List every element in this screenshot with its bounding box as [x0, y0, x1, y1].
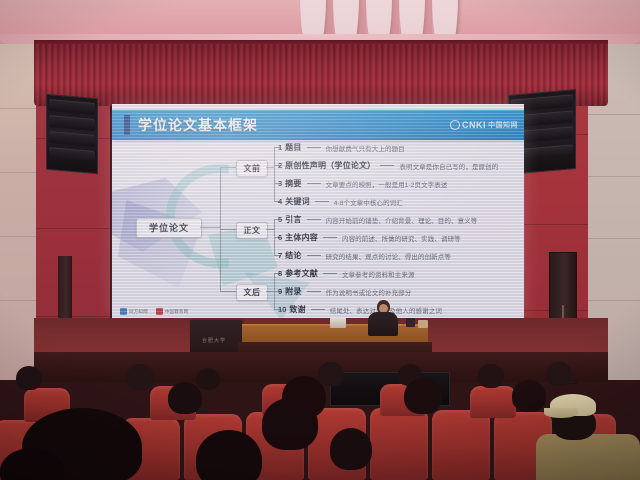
- connector: [274, 147, 275, 201]
- mindmap-group-2: 正文: [236, 222, 268, 239]
- connector: [266, 229, 274, 230]
- connector: [220, 229, 236, 230]
- laptop: [330, 318, 346, 328]
- item-dash: [380, 165, 394, 166]
- slide-title-bar: 学位论文基本框架 CNKI 中国知网: [112, 110, 524, 140]
- item-number: 1: [278, 143, 282, 152]
- item-number: 3: [278, 179, 282, 188]
- cnki-subtitle: 中国知网: [488, 120, 518, 130]
- connector: [200, 227, 220, 228]
- list-item: 7 结论 研究的结果、观点的讨论、得出的创新点等: [278, 250, 451, 261]
- item-label: 致谢: [289, 304, 305, 315]
- audience-jacket: [536, 434, 640, 480]
- item-label: 主体内容: [285, 232, 318, 243]
- item-description: 你想献费气只有大上的题目: [326, 143, 405, 153]
- item-label: 摘要: [285, 178, 301, 189]
- item-description: 文章参考的资料和主来源: [342, 269, 415, 279]
- lectern-nameplate: 合肥大学: [194, 336, 234, 346]
- slide-surface: 学位论文基本框架 CNKI 中国知网 学位论文 文前 正文 文后: [112, 104, 524, 318]
- list-item: 10 致谢 结尾处、表达对导师及他人的感谢之词: [278, 304, 442, 315]
- microphone: [406, 318, 415, 327]
- auditorium-photo: 学位论文基本框架 CNKI 中国知网 学位论文 文前 正文 文后: [0, 0, 640, 480]
- logo-mark-icon: [120, 308, 127, 315]
- left-speaker-stack: [46, 94, 98, 175]
- audience-head: [196, 368, 220, 390]
- slide-footer-logos: 同方知网 中国教育网: [120, 308, 188, 315]
- item-number: 2: [278, 161, 282, 170]
- audience-head: [404, 378, 442, 414]
- item-dash: [307, 183, 321, 184]
- globe-icon: [450, 120, 460, 130]
- list-item: 4 关键词 4-8个文章中核心的词汇: [278, 196, 403, 207]
- mindmap: 学位论文 文前 正文 文后: [112, 142, 524, 314]
- item-description: 作为说明书或论文的补充部分: [326, 287, 412, 297]
- connector: [220, 291, 236, 292]
- item-description: 表明文章是你自己写的，是原创的: [399, 161, 498, 171]
- audience-head: [168, 382, 202, 414]
- item-number: 9: [278, 287, 282, 296]
- item-label: 原创性声明（学位论文）: [285, 160, 375, 171]
- item-number: 6: [278, 233, 282, 242]
- item-description: 内容的前述、所做的研究、实践、调研等: [342, 233, 461, 243]
- presenter: [368, 300, 398, 334]
- item-description: 4-8个文章中核心的词汇: [334, 197, 403, 207]
- seat[interactable]: [470, 386, 516, 418]
- seat[interactable]: [370, 408, 428, 480]
- connector: [220, 167, 236, 168]
- partner-logo-1: 同方知网: [120, 308, 148, 315]
- audience-head: [262, 398, 318, 450]
- item-dash: [307, 219, 321, 220]
- item-dash: [307, 291, 321, 292]
- item-label: 题目: [285, 142, 301, 153]
- item-description: 研究的结果、观点的讨论、得出的创新点等: [326, 251, 451, 261]
- item-label: 参考文献: [285, 268, 318, 279]
- item-dash: [307, 255, 321, 256]
- partner-logo-text: 中国教育网: [165, 309, 189, 315]
- audience-head: [318, 362, 344, 386]
- item-dash: [307, 147, 321, 148]
- cnki-logo: CNKI 中国知网: [450, 120, 518, 130]
- projection-screen: 学位论文基本框架 CNKI 中国知网 学位论文 文前 正文 文后: [112, 104, 524, 318]
- audience-head: [512, 380, 546, 412]
- item-number: 10: [278, 305, 286, 314]
- item-dash: [323, 237, 337, 238]
- audience-head: [16, 366, 42, 390]
- list-item: 3 摘要 文章要点的映照，一般是用1-2页文字表述: [278, 178, 447, 189]
- cnki-name: CNKI: [462, 120, 486, 130]
- item-label: 结论: [285, 250, 301, 261]
- item-description: 内容开始前的铺垫、介绍背景、理论、目的、意义等: [326, 215, 478, 225]
- partner-logo-2: 中国教育网: [156, 308, 189, 315]
- presenter-body: [368, 312, 398, 336]
- seat[interactable]: [432, 410, 490, 480]
- audience-head: [330, 428, 372, 470]
- list-item: 1 题目 你想献费气只有大上的题目: [278, 142, 405, 153]
- audience-head: [546, 362, 572, 386]
- audience-head: [478, 364, 504, 388]
- cap-brim: [544, 408, 578, 418]
- item-number: 4: [278, 197, 282, 206]
- item-label: 引言: [285, 214, 301, 225]
- connector: [266, 167, 274, 168]
- connector: [266, 291, 274, 292]
- cup: [418, 320, 428, 328]
- mindmap-root: 学位论文: [136, 218, 202, 238]
- audience-head: [126, 364, 154, 390]
- item-dash: [323, 273, 337, 274]
- item-number: 5: [278, 215, 282, 224]
- partner-logo-text: 同方知网: [129, 309, 148, 315]
- item-label: 关键词: [285, 196, 310, 207]
- slide-title: 学位论文基本框架: [138, 115, 258, 135]
- item-number: 8: [278, 269, 282, 278]
- list-item: 8 参考文献 文章参考的资料和主来源: [278, 268, 415, 279]
- list-item: 6 主体内容 内容的前述、所做的研究、实践、调研等: [278, 232, 461, 243]
- list-item: 2 原创性声明（学位论文） 表明文章是你自己写的，是原创的: [278, 160, 498, 171]
- list-item: 9 附录 作为说明书或论文的补充部分: [278, 286, 411, 297]
- mindmap-group-1: 文前: [236, 160, 268, 177]
- list-item: 5 引言 内容开始前的铺垫、介绍背景、理论、目的、意义等: [278, 214, 477, 225]
- audience: [0, 362, 640, 480]
- logo-mark-icon: [156, 308, 163, 315]
- item-description: 文章要点的映照，一般是用1-2页文字表述: [326, 179, 448, 189]
- item-dash: [315, 201, 329, 202]
- item-dash: [311, 309, 325, 310]
- item-label: 附录: [285, 286, 301, 297]
- item-number: 7: [278, 251, 282, 260]
- title-accent-bar: [124, 115, 130, 135]
- mindmap-group-3: 文后: [236, 284, 268, 301]
